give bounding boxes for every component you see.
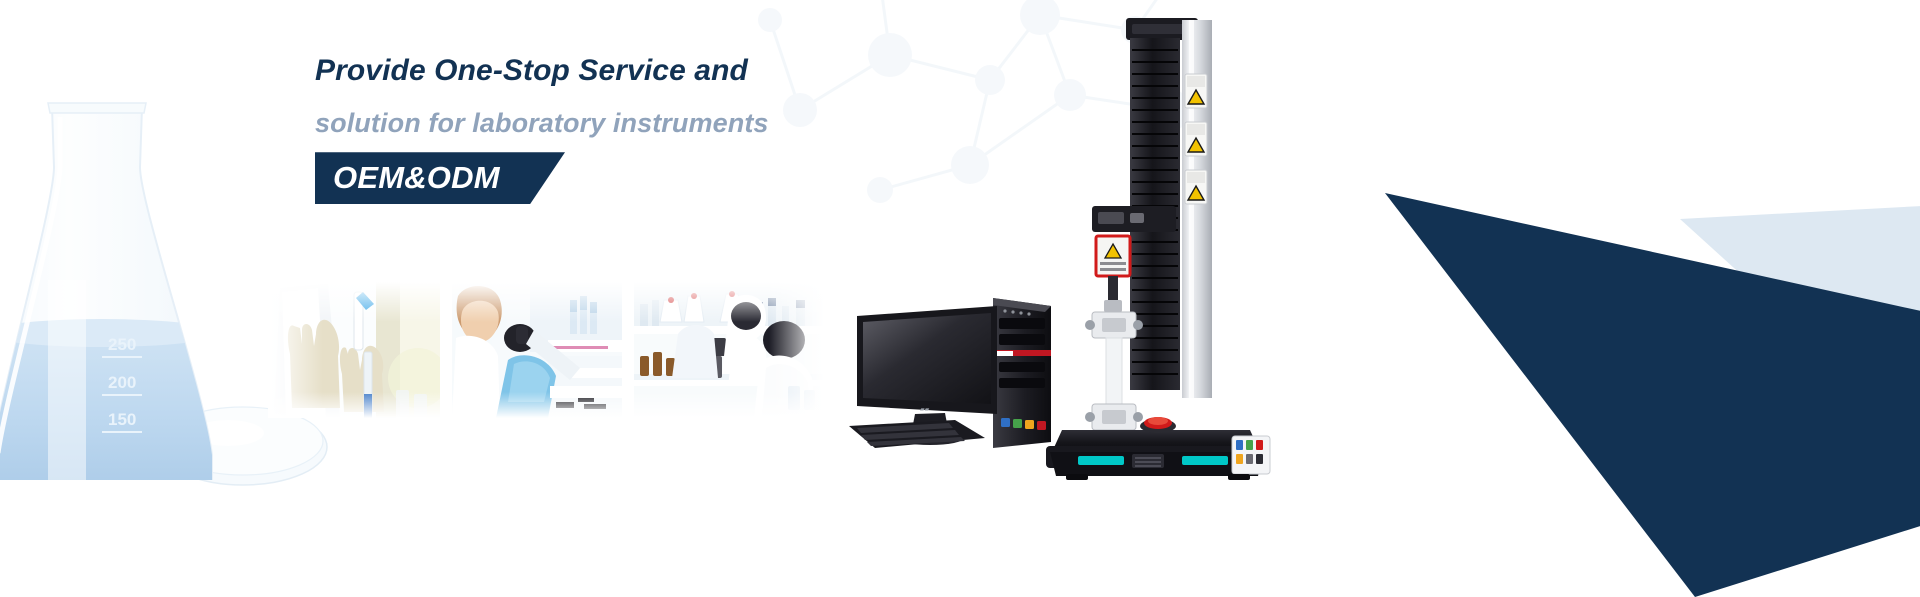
photo-pipetting — [268, 282, 440, 418]
photo-fade-top — [634, 282, 824, 322]
photo-fade-bottom — [268, 392, 440, 418]
photo-microscope — [452, 282, 622, 418]
photo-gap-2 — [622, 282, 634, 418]
svg-text:200: 200 — [108, 373, 136, 392]
svg-text:250: 250 — [108, 335, 136, 354]
tensile-testing-machine-image — [840, 0, 1320, 480]
photo-fade-bottom — [452, 392, 622, 418]
photo-fade-top — [268, 282, 440, 322]
photo-fade-top — [452, 282, 622, 322]
svg-text:150: 150 — [108, 410, 136, 429]
photo-gap-1 — [440, 282, 452, 418]
oem-odm-badge: OEM&ODM — [315, 152, 565, 204]
warning-labels — [1185, 74, 1207, 204]
hero-banner: 250 200 150 Provide One-Stop Service and… — [0, 0, 1920, 597]
photo-lab-bench — [634, 282, 824, 418]
badge-label: OEM&ODM — [333, 152, 500, 204]
erlenmeyer-flask-icon: 250 200 150 — [0, 95, 220, 480]
photo-fade-bottom — [634, 392, 824, 418]
photo-strip — [268, 282, 824, 418]
